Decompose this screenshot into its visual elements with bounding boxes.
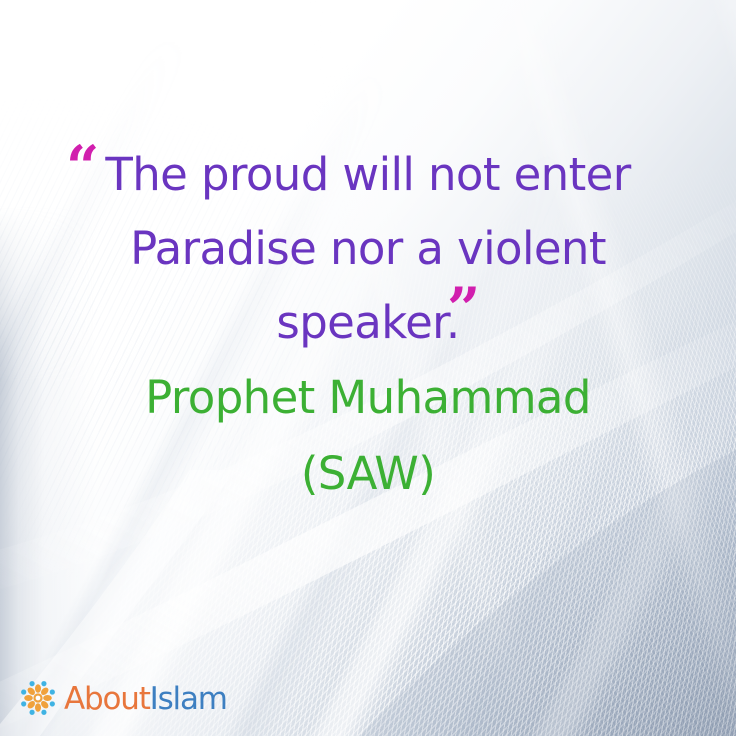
quote-line-1: The proud will not enter [0, 138, 736, 212]
logo-word-about: About [64, 681, 150, 717]
logo-wordmark: AboutIslam [64, 684, 227, 715]
logo-word-islam: Islam [150, 681, 227, 717]
open-quote-mark: “ [66, 138, 99, 196]
attribution-line-2: (SAW) [0, 436, 736, 512]
aboutislam-logo[interactable]: AboutIslam [18, 678, 227, 718]
quote-poster: “ ” The proud will not enter Paradise no… [0, 0, 736, 736]
close-quote-mark: ” [447, 280, 480, 338]
sun-flower-icon [18, 678, 58, 718]
attribution-line-1: Prophet Muhammad [0, 360, 736, 436]
quote-line-3: speaker. [0, 286, 736, 360]
quote-block: The proud will not enter Paradise nor a … [0, 138, 736, 512]
quote-line-2: Paradise nor a violent [0, 212, 736, 286]
